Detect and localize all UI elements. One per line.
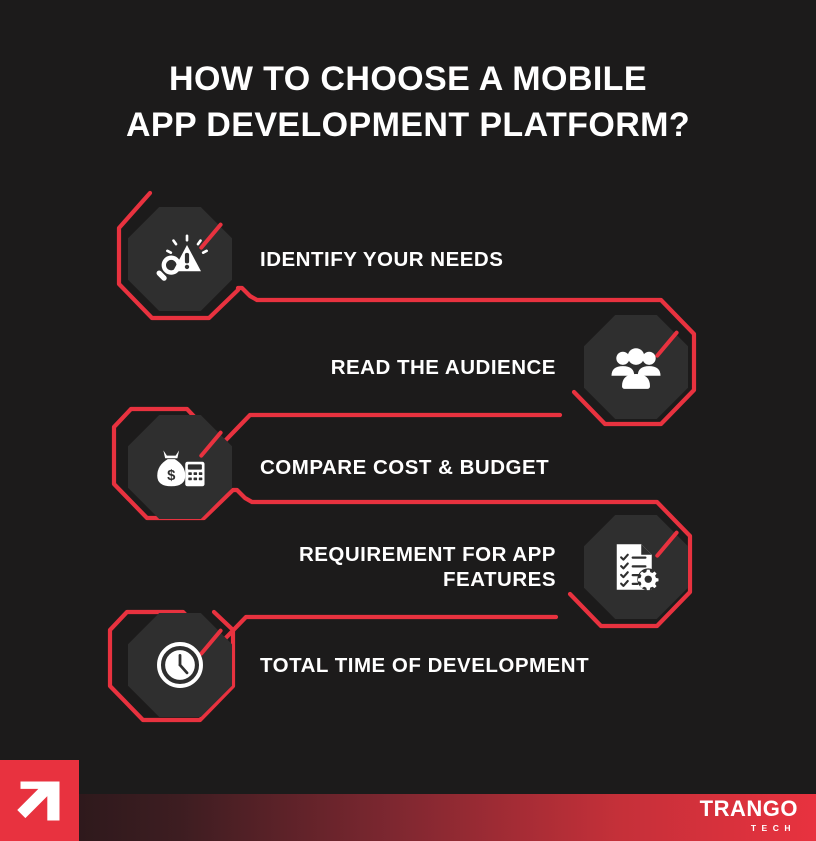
step-item-1[interactable]: IDENTIFY YOUR NEEDS: [128, 207, 688, 311]
step-label-3: COMPARE COST & BUDGET: [260, 455, 549, 480]
step-badge-4: [584, 515, 688, 619]
arrow-up-right-icon: [14, 775, 66, 827]
title-line-2: APP DEVELOPMENT PLATFORM?: [0, 102, 816, 148]
trango-arrow-logo[interactable]: [0, 760, 79, 841]
page-title: HOW TO CHOOSE A MOBILE APP DEVELOPMENT P…: [0, 56, 816, 148]
infographic-page: HOW TO CHOOSE A MOBILE APP DEVELOPMENT P…: [0, 0, 816, 841]
step-badge-1: [128, 207, 232, 311]
step-label-1: IDENTIFY YOUR NEEDS: [260, 247, 503, 272]
step-item-3[interactable]: $: [128, 415, 688, 519]
step-item-5[interactable]: TOTAL TIME OF DEVELOPMENT: [128, 613, 688, 717]
step-badge-3: $: [128, 415, 232, 519]
step-label-4: REQUIREMENT FOR APP FEATURES: [240, 542, 556, 592]
brand-name: TRANGO: [700, 798, 798, 820]
footer-bar: TRANGO TECH: [0, 794, 816, 841]
brand-lockup: TRANGO TECH: [700, 798, 798, 833]
magnifier-warning-icon: [152, 231, 208, 287]
brand-subtitle: TECH: [700, 824, 796, 833]
clock-icon: [152, 637, 208, 693]
step-label-2: READ THE AUDIENCE: [240, 355, 556, 380]
step-badge-5: [128, 613, 232, 717]
step-item-4[interactable]: REQUIREMENT FOR APP FEATURES: [240, 515, 688, 619]
title-line-1: HOW TO CHOOSE A MOBILE: [0, 56, 816, 102]
svg-text:$: $: [167, 468, 176, 484]
step-badge-2: [584, 315, 688, 419]
money-bag-calculator-icon: $: [152, 439, 208, 495]
people-group-icon: [608, 339, 664, 395]
step-item-2[interactable]: READ THE AUDIENCE: [240, 315, 688, 419]
checklist-gear-icon: [608, 539, 664, 595]
step-label-5: TOTAL TIME OF DEVELOPMENT: [260, 653, 589, 678]
